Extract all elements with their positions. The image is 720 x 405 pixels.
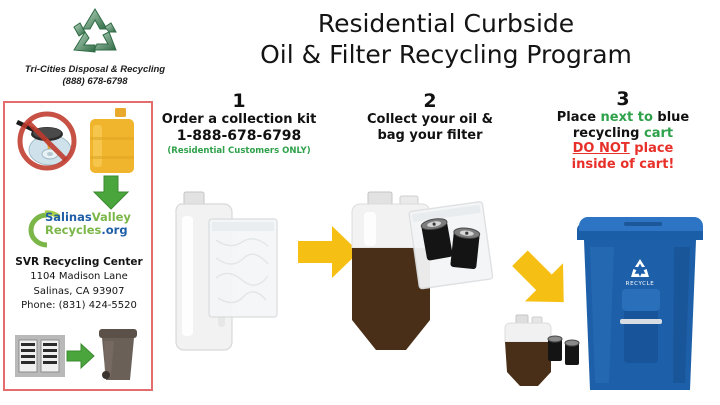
step-1-phone: 1-888-678-6798 bbox=[146, 128, 332, 145]
step-3-do-not: DO NOT bbox=[573, 141, 630, 156]
step-1-heading: 1 Order a collection kit 1-888-678-6798 … bbox=[146, 90, 332, 157]
step-2-line-2: bag your filter bbox=[344, 128, 516, 144]
used-oil-filters-icon bbox=[15, 335, 65, 377]
step-3-heading: 3 Place next to blue recycling cart DO N… bbox=[528, 88, 718, 172]
yellow-right-arrow-icon bbox=[298, 224, 360, 280]
svr-address-block: SVR Recycling Center 1104 Madison Lane S… bbox=[7, 255, 151, 314]
step-3-line-2: recycling cart bbox=[528, 126, 718, 142]
company-logo: Tri-Cities Disposal & Recycling (888) 67… bbox=[4, 4, 186, 96]
blue-recycling-cart-icon: RECYCLE bbox=[578, 195, 702, 400]
step-3-line-1-part-a: Place bbox=[557, 110, 601, 125]
step-3-line-3-part-b: place bbox=[630, 141, 674, 156]
svr-address-line-1: 1104 Madison Lane bbox=[7, 270, 151, 285]
step-3-line-2-highlight: cart bbox=[644, 126, 673, 141]
title-line-2: Oil & Filter Recycling Program bbox=[196, 39, 696, 70]
bagged-oil-filters-icon bbox=[412, 204, 492, 288]
svr-center-name: SVR Recycling Center bbox=[7, 255, 151, 270]
step-3-line-1-part-c: blue bbox=[653, 110, 689, 125]
page-title: Residential Curbside Oil & Filter Recycl… bbox=[196, 8, 696, 70]
step-3-number: 3 bbox=[528, 88, 718, 110]
step-3-artwork: RECYCLE bbox=[506, 195, 720, 403]
company-name: Tri-Cities Disposal & Recycling bbox=[4, 64, 186, 76]
step-3-line-1: Place next to blue bbox=[528, 110, 718, 126]
green-right-arrow-icon bbox=[67, 343, 95, 369]
step-3-line-2-part-a: recycling bbox=[573, 126, 644, 141]
grey-waste-cart-icon bbox=[97, 325, 139, 383]
step-1-line-1: Order a collection kit bbox=[146, 112, 332, 128]
step-3-line-1-highlight: next to bbox=[601, 110, 653, 125]
cart-recycle-label: RECYCLE bbox=[626, 281, 655, 287]
step-1-artwork bbox=[176, 190, 306, 370]
logo-word-recycles: Recycles bbox=[45, 223, 101, 237]
panel-bottom-row bbox=[5, 321, 151, 391]
logo-word-salinas: Salinas bbox=[45, 210, 92, 224]
logo-word-valley: Valley bbox=[92, 210, 131, 224]
logo-word-org: .org bbox=[101, 223, 127, 237]
jug-and-filters-icon bbox=[508, 315, 588, 391]
step-2-line-1: Collect your oil & bbox=[344, 112, 516, 128]
clear-plastic-bag-icon bbox=[208, 218, 278, 318]
step-2-number: 2 bbox=[344, 90, 516, 112]
panel-top-row bbox=[5, 103, 151, 179]
svr-address-line-2: Salinas, CA 93907 bbox=[7, 285, 151, 300]
step-3-line-3: DO NOT place bbox=[528, 141, 718, 157]
company-phone: (888) 678-6798 bbox=[4, 76, 186, 88]
svr-phone: Phone: (831) 424-5520 bbox=[7, 299, 151, 314]
salinas-valley-recycles-logo: SalinasValley Recycles.org bbox=[21, 209, 141, 251]
step-3-line-4: inside of cart! bbox=[528, 157, 718, 173]
step-2-heading: 2 Collect your oil & bag your filter bbox=[344, 90, 516, 143]
drop-off-info-panel: SalinasValley Recycles.org SVR Recycling… bbox=[3, 101, 153, 391]
green-down-arrow-icon bbox=[91, 176, 131, 210]
title-line-1: Residential Curbside bbox=[196, 8, 696, 39]
yellow-oil-jug-icon bbox=[89, 107, 135, 175]
recycling-mobius-icon bbox=[64, 6, 126, 62]
no-pouring-oil-down-drain-icon bbox=[13, 108, 81, 174]
step-1-number: 1 bbox=[146, 90, 332, 112]
step-1-note: (Residential Customers ONLY) bbox=[146, 145, 332, 157]
